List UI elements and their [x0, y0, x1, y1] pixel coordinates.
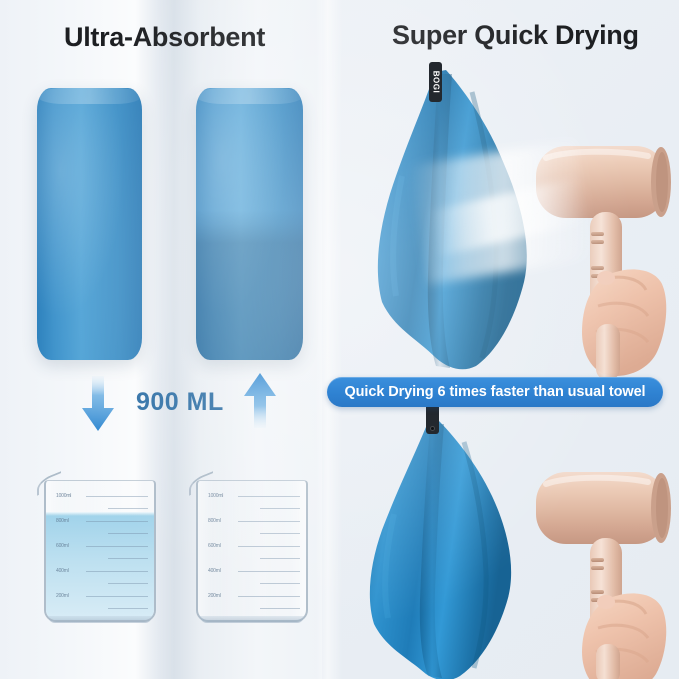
beaker-base	[48, 616, 152, 623]
beaker-graduation-label: 800ml	[56, 518, 69, 524]
beaker-graduation-mark	[108, 558, 148, 559]
beaker-body: 1000ml 800ml 600ml 400ml 200ml	[196, 480, 308, 622]
beaker-graduation-mark	[260, 533, 300, 534]
beaker-graduation-mark	[108, 508, 148, 509]
beaker-graduation-mark	[108, 533, 148, 534]
towel-tag-hole	[430, 426, 435, 431]
beaker-graduation-label: 200ml	[208, 593, 221, 599]
beaker-base	[200, 616, 304, 623]
beaker-graduation-label: 1000ml	[56, 493, 71, 499]
beaker-liquid	[46, 512, 154, 620]
beaker-graduation-mark	[260, 508, 300, 509]
beaker-graduation-mark	[238, 596, 300, 597]
beaker-graduation-mark	[260, 608, 300, 609]
empty-beaker: 1000ml 800ml 600ml 400ml 200ml	[190, 470, 314, 622]
beaker-graduation-label: 600ml	[208, 543, 221, 549]
beaker-graduation-mark	[108, 583, 148, 584]
left-panel-title: Ultra-Absorbent	[64, 22, 265, 53]
panel-divider	[316, 0, 342, 679]
hair-dryer-top	[498, 128, 679, 380]
right-panel-title: Super Quick Drying	[392, 20, 639, 51]
hair-dryer-bottom	[498, 462, 679, 679]
dry-rolled-towel	[37, 88, 142, 360]
wet-rolled-towel	[196, 88, 303, 360]
beaker-graduation-mark	[260, 558, 300, 559]
beaker-graduation-mark	[86, 546, 148, 547]
beaker-graduation-mark	[86, 571, 148, 572]
towel-hang-tag: BOGI	[429, 62, 442, 102]
beaker-graduation-mark	[108, 608, 148, 609]
beaker-graduation-label: 800ml	[208, 518, 221, 524]
badge-label: Quick Drying 6 times faster than usual t…	[345, 384, 646, 400]
quick-drying-badge[interactable]: Quick Drying 6 times faster than usual t…	[327, 377, 663, 407]
beaker-graduation-label: 400ml	[208, 568, 221, 574]
arrow-down-icon	[76, 376, 120, 432]
beaker-graduation-mark	[238, 546, 300, 547]
beaker-graduation-mark	[260, 583, 300, 584]
towel-hang-tag	[426, 404, 439, 434]
product-infographic: Ultra-Absorbent	[0, 0, 679, 679]
beaker-graduation-mark	[86, 496, 148, 497]
filled-beaker: 1000ml 800ml 600ml 400ml 200ml	[38, 470, 162, 622]
beaker-graduation-mark	[238, 571, 300, 572]
beaker-body: 1000ml 800ml 600ml 400ml 200ml	[44, 480, 156, 622]
beaker-graduation-mark	[238, 496, 300, 497]
arrow-up-icon	[238, 372, 282, 428]
beaker-graduation-mark	[238, 521, 300, 522]
beaker-graduation-label: 200ml	[56, 593, 69, 599]
towel-roll-top-edge	[37, 88, 142, 104]
beaker-graduation-label: 400ml	[56, 568, 69, 574]
towel-roll-top-edge	[196, 88, 303, 104]
beaker-graduation-mark	[86, 521, 148, 522]
beaker-graduation-label: 600ml	[56, 543, 69, 549]
beaker-graduation-mark	[86, 596, 148, 597]
towel-tag-label: BOGI	[431, 71, 440, 93]
capacity-label: 900 ML	[136, 388, 224, 417]
beaker-graduation-label: 1000ml	[208, 493, 223, 499]
